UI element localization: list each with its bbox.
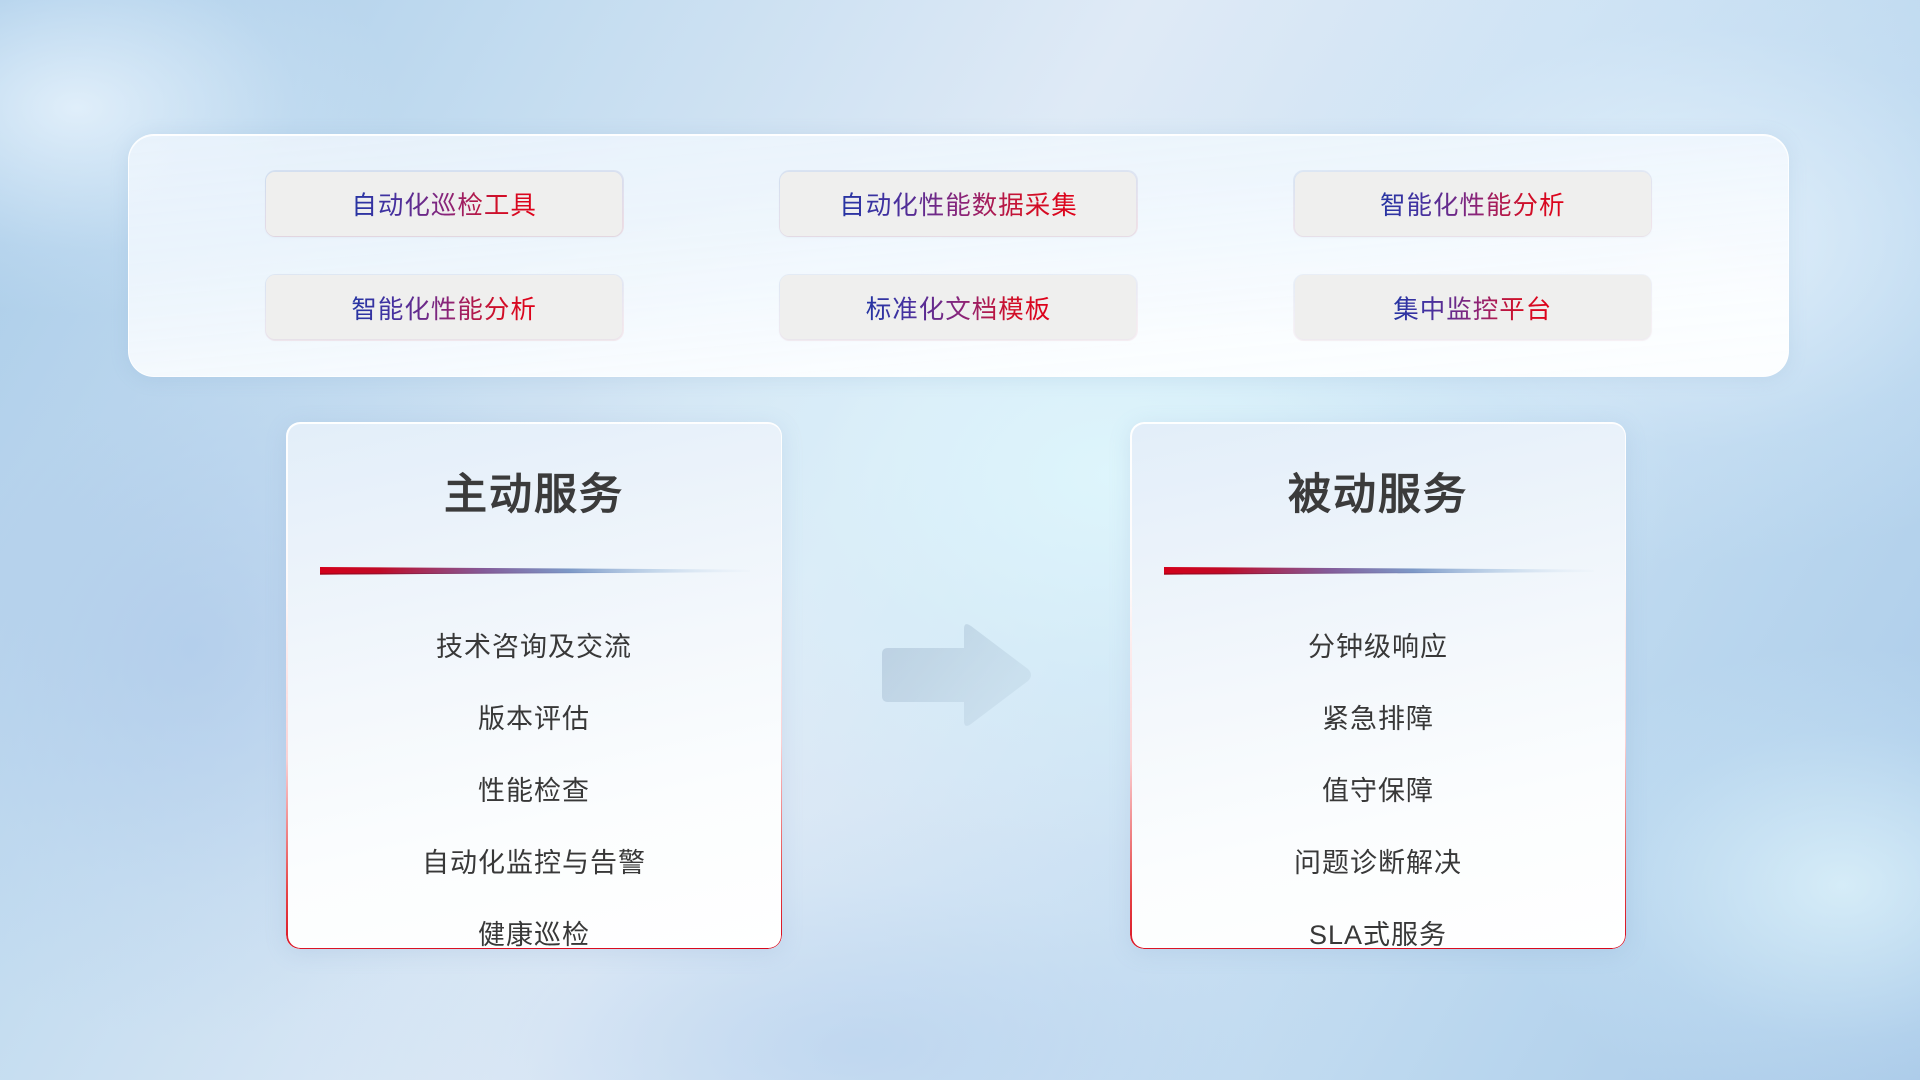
- card-divider-passive: [1164, 564, 1594, 578]
- card-item[interactable]: 自动化监控与告警: [286, 824, 782, 896]
- card-item[interactable]: 版本评估: [286, 680, 782, 752]
- capability-pill-intelligent-perf-analysis-2[interactable]: 智能化性能分析: [266, 275, 622, 339]
- diagram-stage: 自动化巡检工具 自动化性能数据采集 智能化性能分析 智能化性能分析: [0, 0, 1920, 1080]
- card-list-passive: 分钟级响应 紧急排障 值守保障 问题诊断解决 SLA式服务: [1130, 608, 1626, 949]
- capability-pill-label: 标准化文档模板: [866, 289, 1052, 326]
- capability-pill-label: 自动化性能数据采集: [839, 185, 1078, 222]
- card-item[interactable]: 健康巡检: [286, 896, 782, 949]
- card-item[interactable]: 分钟级响应: [1130, 608, 1626, 680]
- capability-pill-label: 自动化巡检工具: [351, 185, 537, 222]
- card-title-passive: 被动服务: [1130, 460, 1626, 522]
- pill-surface: 自动化性能数据采集: [780, 172, 1136, 236]
- capability-pill-central-monitor-platform[interactable]: 集中监控平台: [1295, 275, 1651, 339]
- capability-pill-label: 智能化性能分析: [351, 289, 537, 326]
- card-item[interactable]: 问题诊断解决: [1130, 824, 1626, 896]
- capability-pill-standard-doc-template[interactable]: 标准化文档模板: [780, 275, 1136, 339]
- pill-surface: 智能化性能分析: [266, 275, 622, 339]
- service-card-passive[interactable]: 被动服务: [1130, 422, 1626, 949]
- card-item[interactable]: 值守保障: [1130, 752, 1626, 824]
- card-item[interactable]: 技术咨询及交流: [286, 608, 782, 680]
- capability-pill-auto-perf-data-collection[interactable]: 自动化性能数据采集: [780, 172, 1136, 236]
- card-item[interactable]: SLA式服务: [1130, 896, 1626, 949]
- capability-pill-intelligent-perf-analysis-1[interactable]: 智能化性能分析: [1295, 172, 1651, 236]
- capability-tags-panel: 自动化巡检工具 自动化性能数据采集 智能化性能分析 智能化性能分析: [128, 134, 1789, 377]
- card-item[interactable]: 性能检查: [286, 752, 782, 824]
- card-divider-active: [320, 564, 750, 578]
- arrow-right-icon: [876, 620, 1036, 730]
- pill-surface: 集中监控平台: [1295, 275, 1651, 339]
- pill-surface: 标准化文档模板: [780, 275, 1136, 339]
- pill-surface: 智能化性能分析: [1295, 172, 1651, 236]
- capability-pill-label: 智能化性能分析: [1380, 185, 1566, 222]
- card-item[interactable]: 紧急排障: [1130, 680, 1626, 752]
- card-list-active: 技术咨询及交流 版本评估 性能检查 自动化监控与告警 健康巡检: [286, 608, 782, 949]
- service-card-active[interactable]: 主动服务: [286, 422, 782, 949]
- capability-pill-grid: 自动化巡检工具 自动化性能数据采集 智能化性能分析 智能化性能分析: [129, 135, 1788, 376]
- capability-pill-label: 集中监控平台: [1393, 289, 1552, 326]
- pill-surface: 自动化巡检工具: [266, 172, 622, 236]
- card-title-active: 主动服务: [286, 460, 782, 522]
- capability-pill-auto-inspection-tool[interactable]: 自动化巡检工具: [266, 172, 622, 236]
